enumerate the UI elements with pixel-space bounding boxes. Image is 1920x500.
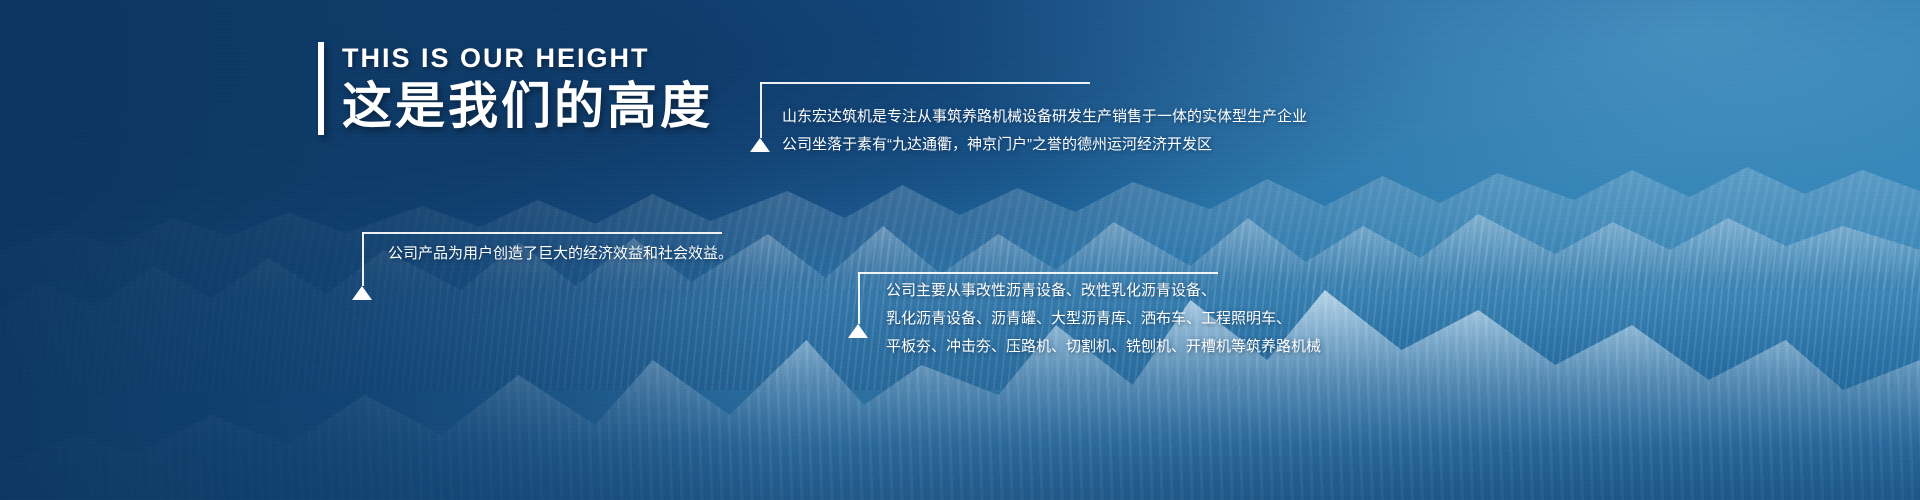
- company-intro-callout: 山东宏达筑机是专注从事筑养路机械设备研发生产销售于一体的实体型生产企业 公司坐落…: [760, 82, 1307, 159]
- callout-text-group: 公司主要从事改性沥青设备、改性乳化沥青设备、 乳化沥青设备、沥青罐、大型沥青库、…: [858, 272, 1321, 361]
- products-callout: 公司主要从事改性沥青设备、改性乳化沥青设备、 乳化沥青设备、沥青罐、大型沥青库、…: [858, 272, 1321, 361]
- banner-title-block: THIS IS OUR HEIGHT 这是我们的高度: [318, 42, 713, 135]
- benefit-callout: 公司产品为用户创造了巨大的经济效益和社会效益。: [362, 232, 733, 268]
- title-chinese: 这是我们的高度: [342, 77, 713, 135]
- title-accent-bar: [318, 42, 324, 135]
- callout-line: 公司坐落于素有“九达通衢，神京门户”之誉的德州运河经济开发区: [782, 131, 1307, 159]
- triangle-marker-icon: [352, 286, 372, 300]
- callout-line: 公司产品为用户创造了巨大的经济效益和社会效益。: [388, 240, 733, 268]
- callout-line: 乳化沥青设备、沥青罐、大型沥青库、洒布车、工程照明车、: [886, 305, 1321, 333]
- callout-text-group: 山东宏达筑机是专注从事筑养路机械设备研发生产销售于一体的实体型生产企业 公司坐落…: [760, 82, 1307, 159]
- callout-line: 公司主要从事改性沥青设备、改性乳化沥青设备、: [886, 277, 1321, 305]
- title-text-group: THIS IS OUR HEIGHT 这是我们的高度: [342, 42, 713, 135]
- hero-banner: THIS IS OUR HEIGHT 这是我们的高度 山东宏达筑机是专注从事筑养…: [0, 0, 1920, 500]
- callout-line: 平板夯、冲击夯、压路机、切割机、铣刨机、开槽机等筑养路机械: [886, 333, 1321, 361]
- callout-text-group: 公司产品为用户创造了巨大的经济效益和社会效益。: [362, 232, 733, 268]
- callout-line: 山东宏达筑机是专注从事筑养路机械设备研发生产销售于一体的实体型生产企业: [782, 103, 1307, 131]
- title-english: THIS IS OUR HEIGHT: [342, 42, 713, 74]
